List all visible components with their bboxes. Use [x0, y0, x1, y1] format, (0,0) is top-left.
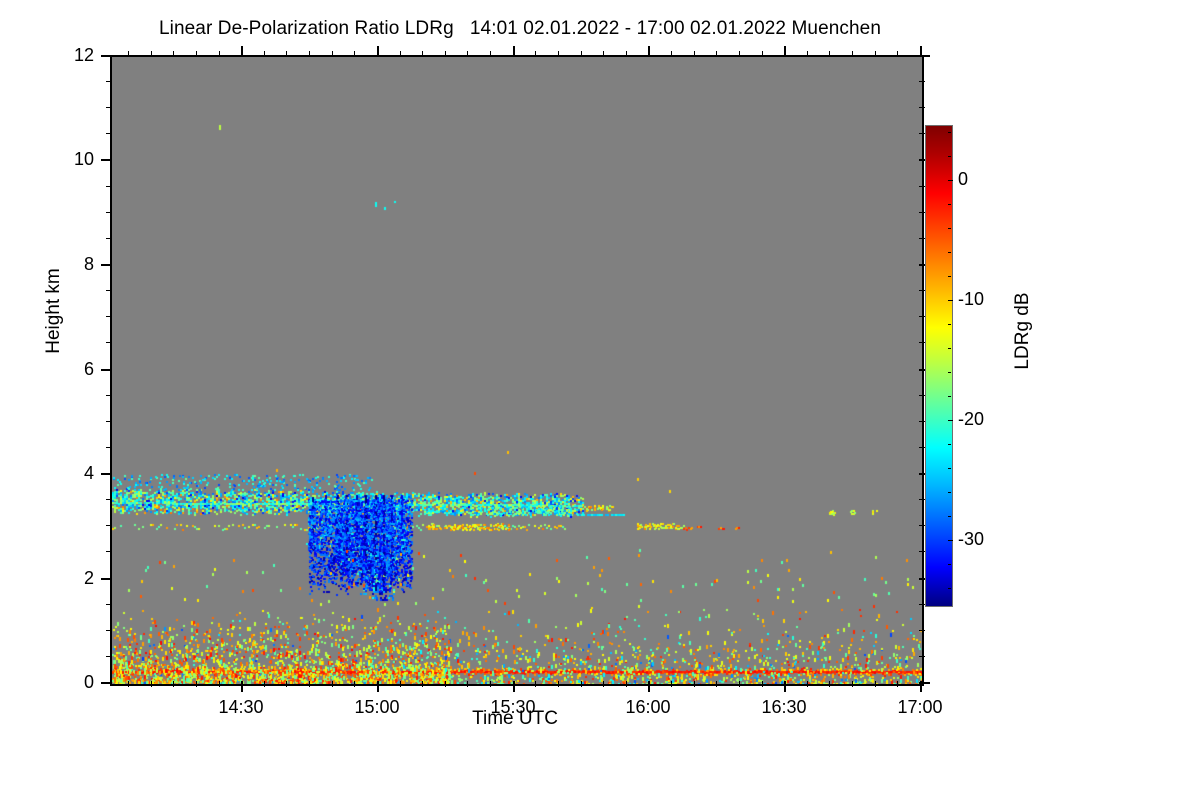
x-axis-minor-tick — [852, 681, 853, 687]
colorbar-label: LDRg dB — [1012, 271, 1034, 391]
y-axis-major-tick — [101, 578, 112, 580]
y-axis-label: Height km — [43, 251, 65, 371]
x-axis-minor-tick — [603, 681, 604, 687]
y-axis-major-tick — [101, 473, 112, 475]
y-axis-minor-tick — [106, 551, 112, 552]
colorbar-minor-tick — [948, 276, 951, 277]
x-axis-minor-tick-top — [219, 51, 220, 57]
y-axis-minor-tick — [106, 290, 112, 291]
colorbar-minor-tick — [948, 156, 951, 157]
y-axis-tick-label: 0 — [48, 673, 94, 691]
colorbar-minor-tick — [948, 396, 951, 397]
x-axis-minor-tick-top — [852, 51, 853, 57]
plot-area — [110, 55, 924, 686]
colorbar-minor-tick — [948, 372, 951, 373]
x-axis-minor-tick — [332, 681, 333, 687]
x-axis-minor-tick-top — [264, 51, 265, 57]
x-axis-minor-tick-top — [535, 51, 536, 57]
x-axis-minor-tick — [286, 681, 287, 687]
y-axis-minor-tick — [106, 107, 112, 108]
x-axis-minor-tick-top — [173, 51, 174, 57]
x-axis-minor-tick-top — [762, 51, 763, 57]
x-axis-minor-tick-top — [354, 51, 355, 57]
x-axis-minor-tick-top — [332, 51, 333, 57]
y-axis-minor-tick-right — [919, 656, 925, 657]
x-axis-minor-tick — [581, 681, 582, 687]
x-axis-minor-tick-top — [286, 51, 287, 57]
colorbar-minor-tick — [948, 516, 951, 517]
heatmap-canvas — [112, 57, 922, 684]
x-axis-minor-tick — [309, 681, 310, 687]
y-axis-major-tick — [101, 55, 112, 57]
y-axis-minor-tick — [106, 630, 112, 631]
page-title: Linear De-Polarization Ratio LDRg 14:01 … — [0, 18, 1040, 40]
x-axis-major-tick-top — [784, 46, 786, 57]
x-axis-minor-tick-top — [196, 51, 197, 57]
colorbar-tick-label: -20 — [958, 410, 984, 428]
colorbar-minor-tick — [948, 228, 951, 229]
colorbar-tick — [948, 300, 953, 301]
x-axis-major-tick — [241, 681, 243, 692]
x-axis-minor-tick-top — [309, 51, 310, 57]
x-axis-minor-tick — [671, 681, 672, 687]
y-axis-minor-tick — [106, 656, 112, 657]
y-axis-minor-tick — [106, 133, 112, 134]
x-axis-major-tick — [648, 681, 650, 692]
x-axis-minor-tick-top — [400, 51, 401, 57]
colorbar-minor-tick — [948, 348, 951, 349]
colorbar-minor-tick — [948, 132, 951, 133]
x-axis-minor-tick — [219, 681, 220, 687]
y-axis-tick-label: 10 — [48, 150, 94, 168]
x-axis-minor-tick-top — [829, 51, 830, 57]
colorbar-minor-tick — [948, 324, 951, 325]
y-axis-minor-tick-right — [919, 630, 925, 631]
x-axis-major-tick-top — [648, 46, 650, 57]
x-axis-major-tick-top — [513, 46, 515, 57]
colorbar-minor-tick — [948, 444, 951, 445]
x-axis-minor-tick — [151, 681, 152, 687]
x-axis-minor-tick-top — [422, 51, 423, 57]
y-axis-minor-tick — [106, 525, 112, 526]
x-axis-minor-tick-top — [807, 51, 808, 57]
x-axis-minor-tick — [716, 681, 717, 687]
x-axis-minor-tick-top — [128, 51, 129, 57]
x-axis-minor-tick-top — [626, 51, 627, 57]
x-axis-minor-tick — [196, 681, 197, 687]
y-axis-minor-tick — [106, 421, 112, 422]
colorbar-minor-tick — [948, 588, 951, 589]
y-axis-major-tick — [101, 264, 112, 266]
y-axis-minor-tick — [106, 81, 112, 82]
y-axis-major-tick — [101, 159, 112, 161]
y-axis-minor-tick — [106, 316, 112, 317]
x-axis-minor-tick — [128, 681, 129, 687]
colorbar-minor-tick — [948, 204, 951, 205]
x-axis-major-tick-top — [241, 46, 243, 57]
colorbar — [925, 125, 953, 607]
x-axis-minor-tick — [354, 681, 355, 687]
x-axis-major-tick-top — [377, 46, 379, 57]
x-axis-minor-tick — [467, 681, 468, 687]
y-axis-major-tick — [101, 682, 112, 684]
colorbar-minor-tick — [948, 468, 951, 469]
y-axis-minor-tick — [106, 604, 112, 605]
x-axis-minor-tick — [829, 681, 830, 687]
x-axis-minor-tick-top — [716, 51, 717, 57]
x-axis-minor-tick — [422, 681, 423, 687]
y-axis-minor-tick — [106, 395, 112, 396]
colorbar-minor-tick — [948, 564, 951, 565]
x-axis-minor-tick-top — [581, 51, 582, 57]
colorbar-tick — [948, 540, 953, 541]
x-axis-minor-tick-top — [603, 51, 604, 57]
x-axis-minor-tick-top — [490, 51, 491, 57]
x-axis-minor-tick — [264, 681, 265, 687]
x-axis-minor-tick-top — [739, 51, 740, 57]
x-axis-minor-tick — [807, 681, 808, 687]
y-axis-minor-tick — [106, 212, 112, 213]
x-axis-minor-tick-top — [467, 51, 468, 57]
x-axis-minor-tick — [445, 681, 446, 687]
x-axis-minor-tick-top — [694, 51, 695, 57]
y-axis-minor-tick — [106, 186, 112, 187]
x-axis-minor-tick-top — [897, 51, 898, 57]
y-axis-major-tick — [101, 369, 112, 371]
x-axis-minor-tick-top — [558, 51, 559, 57]
y-axis-tick-label: 4 — [48, 464, 94, 482]
x-axis-minor-tick-top — [151, 51, 152, 57]
x-axis-minor-tick — [400, 681, 401, 687]
x-axis-minor-tick — [875, 681, 876, 687]
y-axis-minor-tick-right — [919, 81, 925, 82]
y-axis-minor-tick — [106, 447, 112, 448]
x-axis-major-tick — [377, 681, 379, 692]
x-axis-minor-tick — [626, 681, 627, 687]
x-axis-minor-tick — [762, 681, 763, 687]
y-axis-minor-tick — [106, 499, 112, 500]
x-axis-major-tick-top — [920, 46, 922, 57]
x-axis-minor-tick — [490, 681, 491, 687]
colorbar-tick — [948, 420, 953, 421]
x-axis-minor-tick — [558, 681, 559, 687]
colorbar-tick-label: 0 — [958, 170, 968, 188]
colorbar-tick — [948, 180, 953, 181]
x-axis-label: Time UTC — [110, 708, 920, 730]
y-axis-minor-tick — [106, 238, 112, 239]
colorbar-minor-tick — [948, 492, 951, 493]
colorbar-tick-label: -30 — [958, 530, 984, 548]
x-axis-minor-tick — [535, 681, 536, 687]
y-axis-minor-tick-right — [919, 107, 925, 108]
x-axis-minor-tick-top — [671, 51, 672, 57]
x-axis-major-tick — [920, 681, 922, 692]
x-axis-minor-tick — [739, 681, 740, 687]
x-axis-major-tick — [513, 681, 515, 692]
y-axis-minor-tick — [106, 342, 112, 343]
x-axis-minor-tick-top — [875, 51, 876, 57]
y-axis-tick-label: 12 — [48, 46, 94, 64]
x-axis-minor-tick — [694, 681, 695, 687]
x-axis-minor-tick — [173, 681, 174, 687]
y-axis-tick-label: 2 — [48, 569, 94, 587]
colorbar-minor-tick — [948, 252, 951, 253]
x-axis-minor-tick-top — [445, 51, 446, 57]
x-axis-major-tick — [784, 681, 786, 692]
colorbar-tick-label: -10 — [958, 290, 984, 308]
x-axis-minor-tick — [897, 681, 898, 687]
chart-figure: Linear De-Polarization Ratio LDRg 14:01 … — [0, 0, 1200, 800]
